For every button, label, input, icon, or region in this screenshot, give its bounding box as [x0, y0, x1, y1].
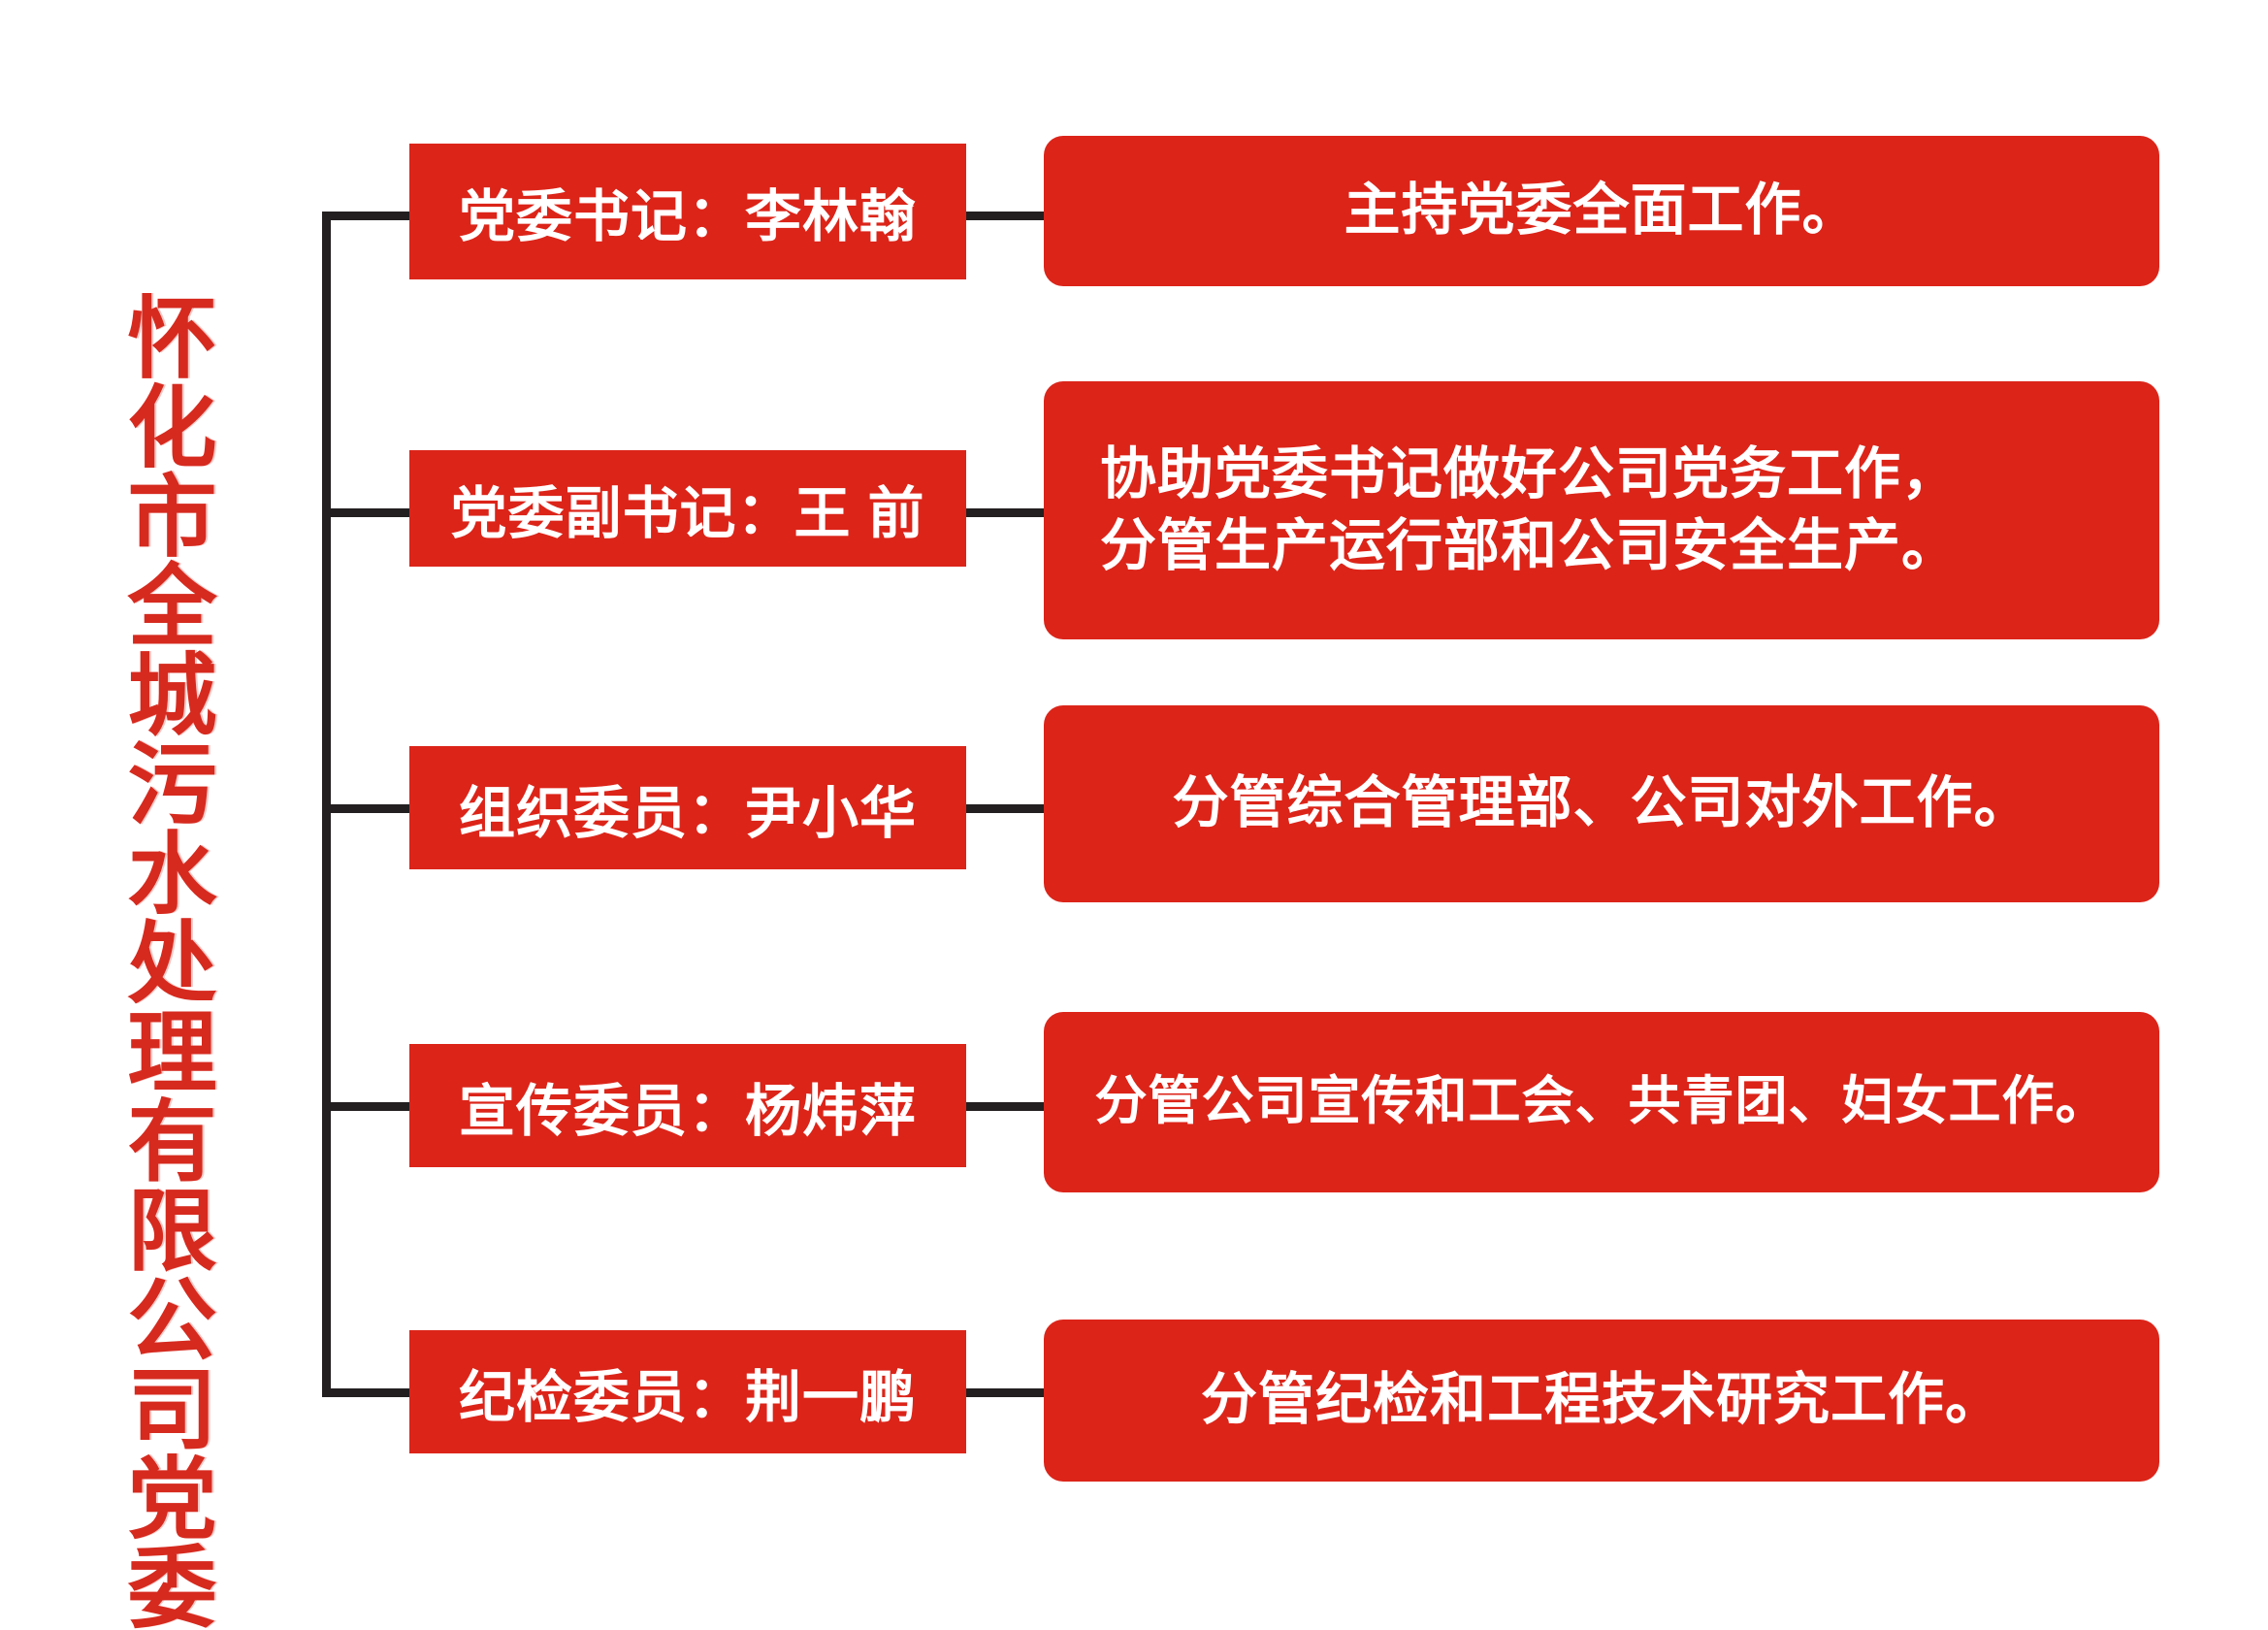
branch-line-5: [322, 1388, 411, 1397]
duty-text-1: 主持党委全面工作。: [1344, 175, 1859, 246]
link-line-5: [960, 1388, 1050, 1397]
position-box-1[interactable]: 党委书记：李林翰: [409, 144, 966, 279]
duty-text-5: 分管纪检和工程技术研究工作。: [1201, 1364, 2002, 1436]
link-line-2: [960, 508, 1050, 517]
position-box-3[interactable]: 组织委员：尹小华: [409, 746, 966, 869]
branch-line-2: [322, 508, 411, 517]
branch-line-1: [322, 212, 411, 220]
branch-line-3: [322, 804, 411, 813]
link-line-3: [960, 804, 1050, 813]
duty-text-2: 协助党委书记做好公司党务工作， 分管生产运行部和公司安全生产。: [1100, 439, 1959, 582]
link-line-4: [960, 1102, 1050, 1111]
organization-title: 怀化市全城污水处理有限公司党委: [81, 291, 210, 1290]
duty-text-3: 分管综合管理部、公司对外工作。: [1172, 767, 2030, 839]
duty-box-3[interactable]: 分管综合管理部、公司对外工作。: [1044, 705, 2159, 902]
duty-box-2[interactable]: 协助党委书记做好公司党务工作， 分管生产运行部和公司安全生产。: [1044, 381, 2159, 639]
branch-line-4: [322, 1102, 411, 1111]
duty-text-4: 分管公司宣传和工会、共青团、妇女工作。: [1095, 1068, 2109, 1135]
position-box-2[interactable]: 党委副书记：王 前: [409, 450, 966, 567]
position-box-5[interactable]: 纪检委员：荆一鹏: [409, 1330, 966, 1453]
duty-box-1[interactable]: 主持党委全面工作。: [1044, 136, 2159, 286]
position-box-4[interactable]: 宣传委员：杨炜萍: [409, 1044, 966, 1167]
org-chart-canvas: 怀化市全城污水处理有限公司党委 党委书记：李林翰 主持党委全面工作。 党委副书记…: [0, 0, 2268, 1604]
duty-box-4[interactable]: 分管公司宣传和工会、共青团、妇女工作。: [1044, 1012, 2159, 1192]
duty-box-5[interactable]: 分管纪检和工程技术研究工作。: [1044, 1320, 2159, 1482]
link-line-1: [960, 212, 1050, 220]
